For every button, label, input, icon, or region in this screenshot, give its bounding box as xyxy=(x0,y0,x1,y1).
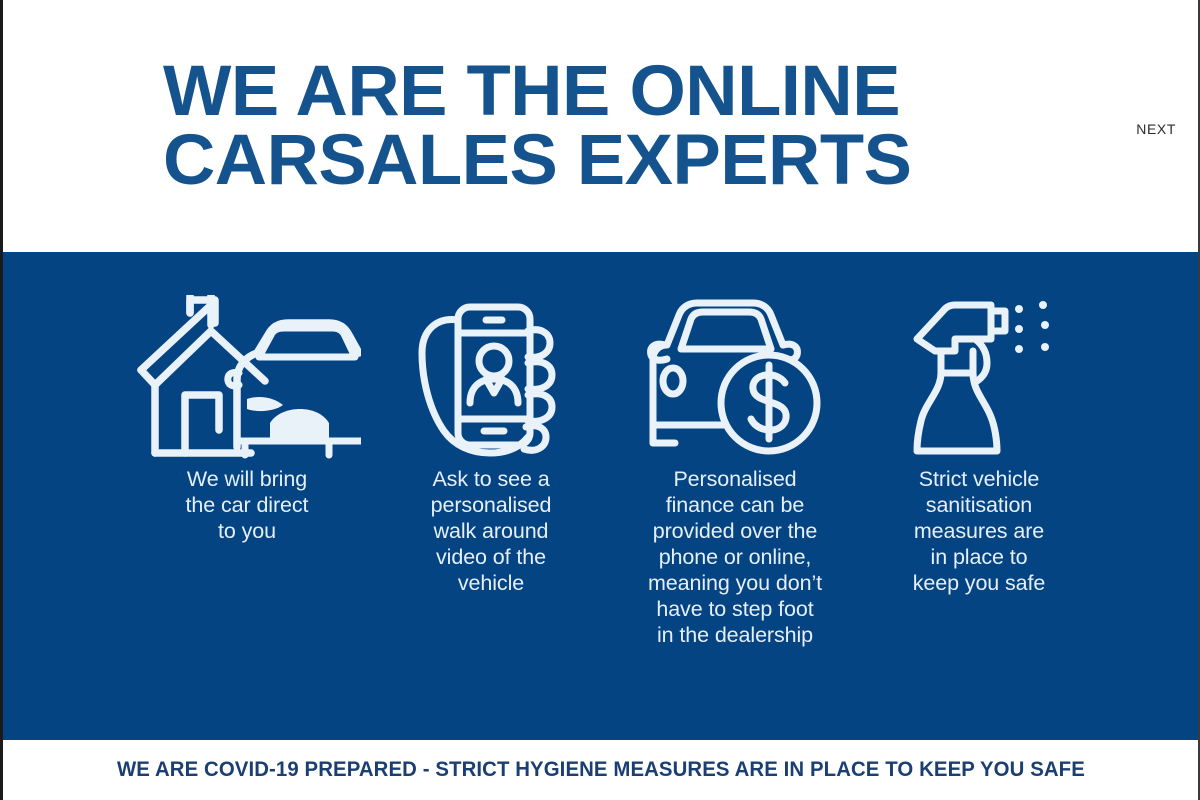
header-band: WE ARE THE ONLINE CARSALES EXPERTS NEXT xyxy=(3,0,1198,252)
car-with-dollar-coin-icon xyxy=(635,252,835,452)
feature-caption: Strict vehicle sanitisation measures are… xyxy=(913,466,1046,596)
feature-caption: We will bring the car direct to you xyxy=(186,466,309,544)
feature-item-home-delivery: We will bring the car direct to you xyxy=(133,252,361,544)
feature-caption: Ask to see a personalised walk around vi… xyxy=(431,466,552,596)
footer-band: WE ARE COVID-19 PREPARED - STRICT HYGIEN… xyxy=(3,740,1198,800)
features-panel: We will bring the car direct to you xyxy=(3,252,1198,740)
next-button[interactable]: NEXT xyxy=(1136,121,1176,137)
features-row: We will bring the car direct to you xyxy=(133,252,1093,740)
feature-item-finance: Personalised finance can be provided ove… xyxy=(621,252,849,648)
feature-item-sanitisation: Strict vehicle sanitisation measures are… xyxy=(865,252,1093,596)
promo-poster: WE ARE THE ONLINE CARSALES EXPERTS NEXT xyxy=(0,0,1200,800)
covid-banner-text: WE ARE COVID-19 PREPARED - STRICT HYGIEN… xyxy=(117,758,1085,782)
house-with-car-icon xyxy=(133,252,361,452)
feature-caption: Personalised finance can be provided ove… xyxy=(648,466,822,648)
spray-bottle-icon xyxy=(899,252,1059,452)
headline-line-2: CARSALES EXPERTS xyxy=(163,127,1081,196)
headline-line-1: WE ARE THE ONLINE xyxy=(163,58,1081,127)
hand-holding-phone-video-icon xyxy=(416,252,566,452)
feature-item-walkaround-video: Ask to see a personalised walk around vi… xyxy=(377,252,605,596)
page-title: WE ARE THE ONLINE CARSALES EXPERTS xyxy=(163,58,1081,196)
